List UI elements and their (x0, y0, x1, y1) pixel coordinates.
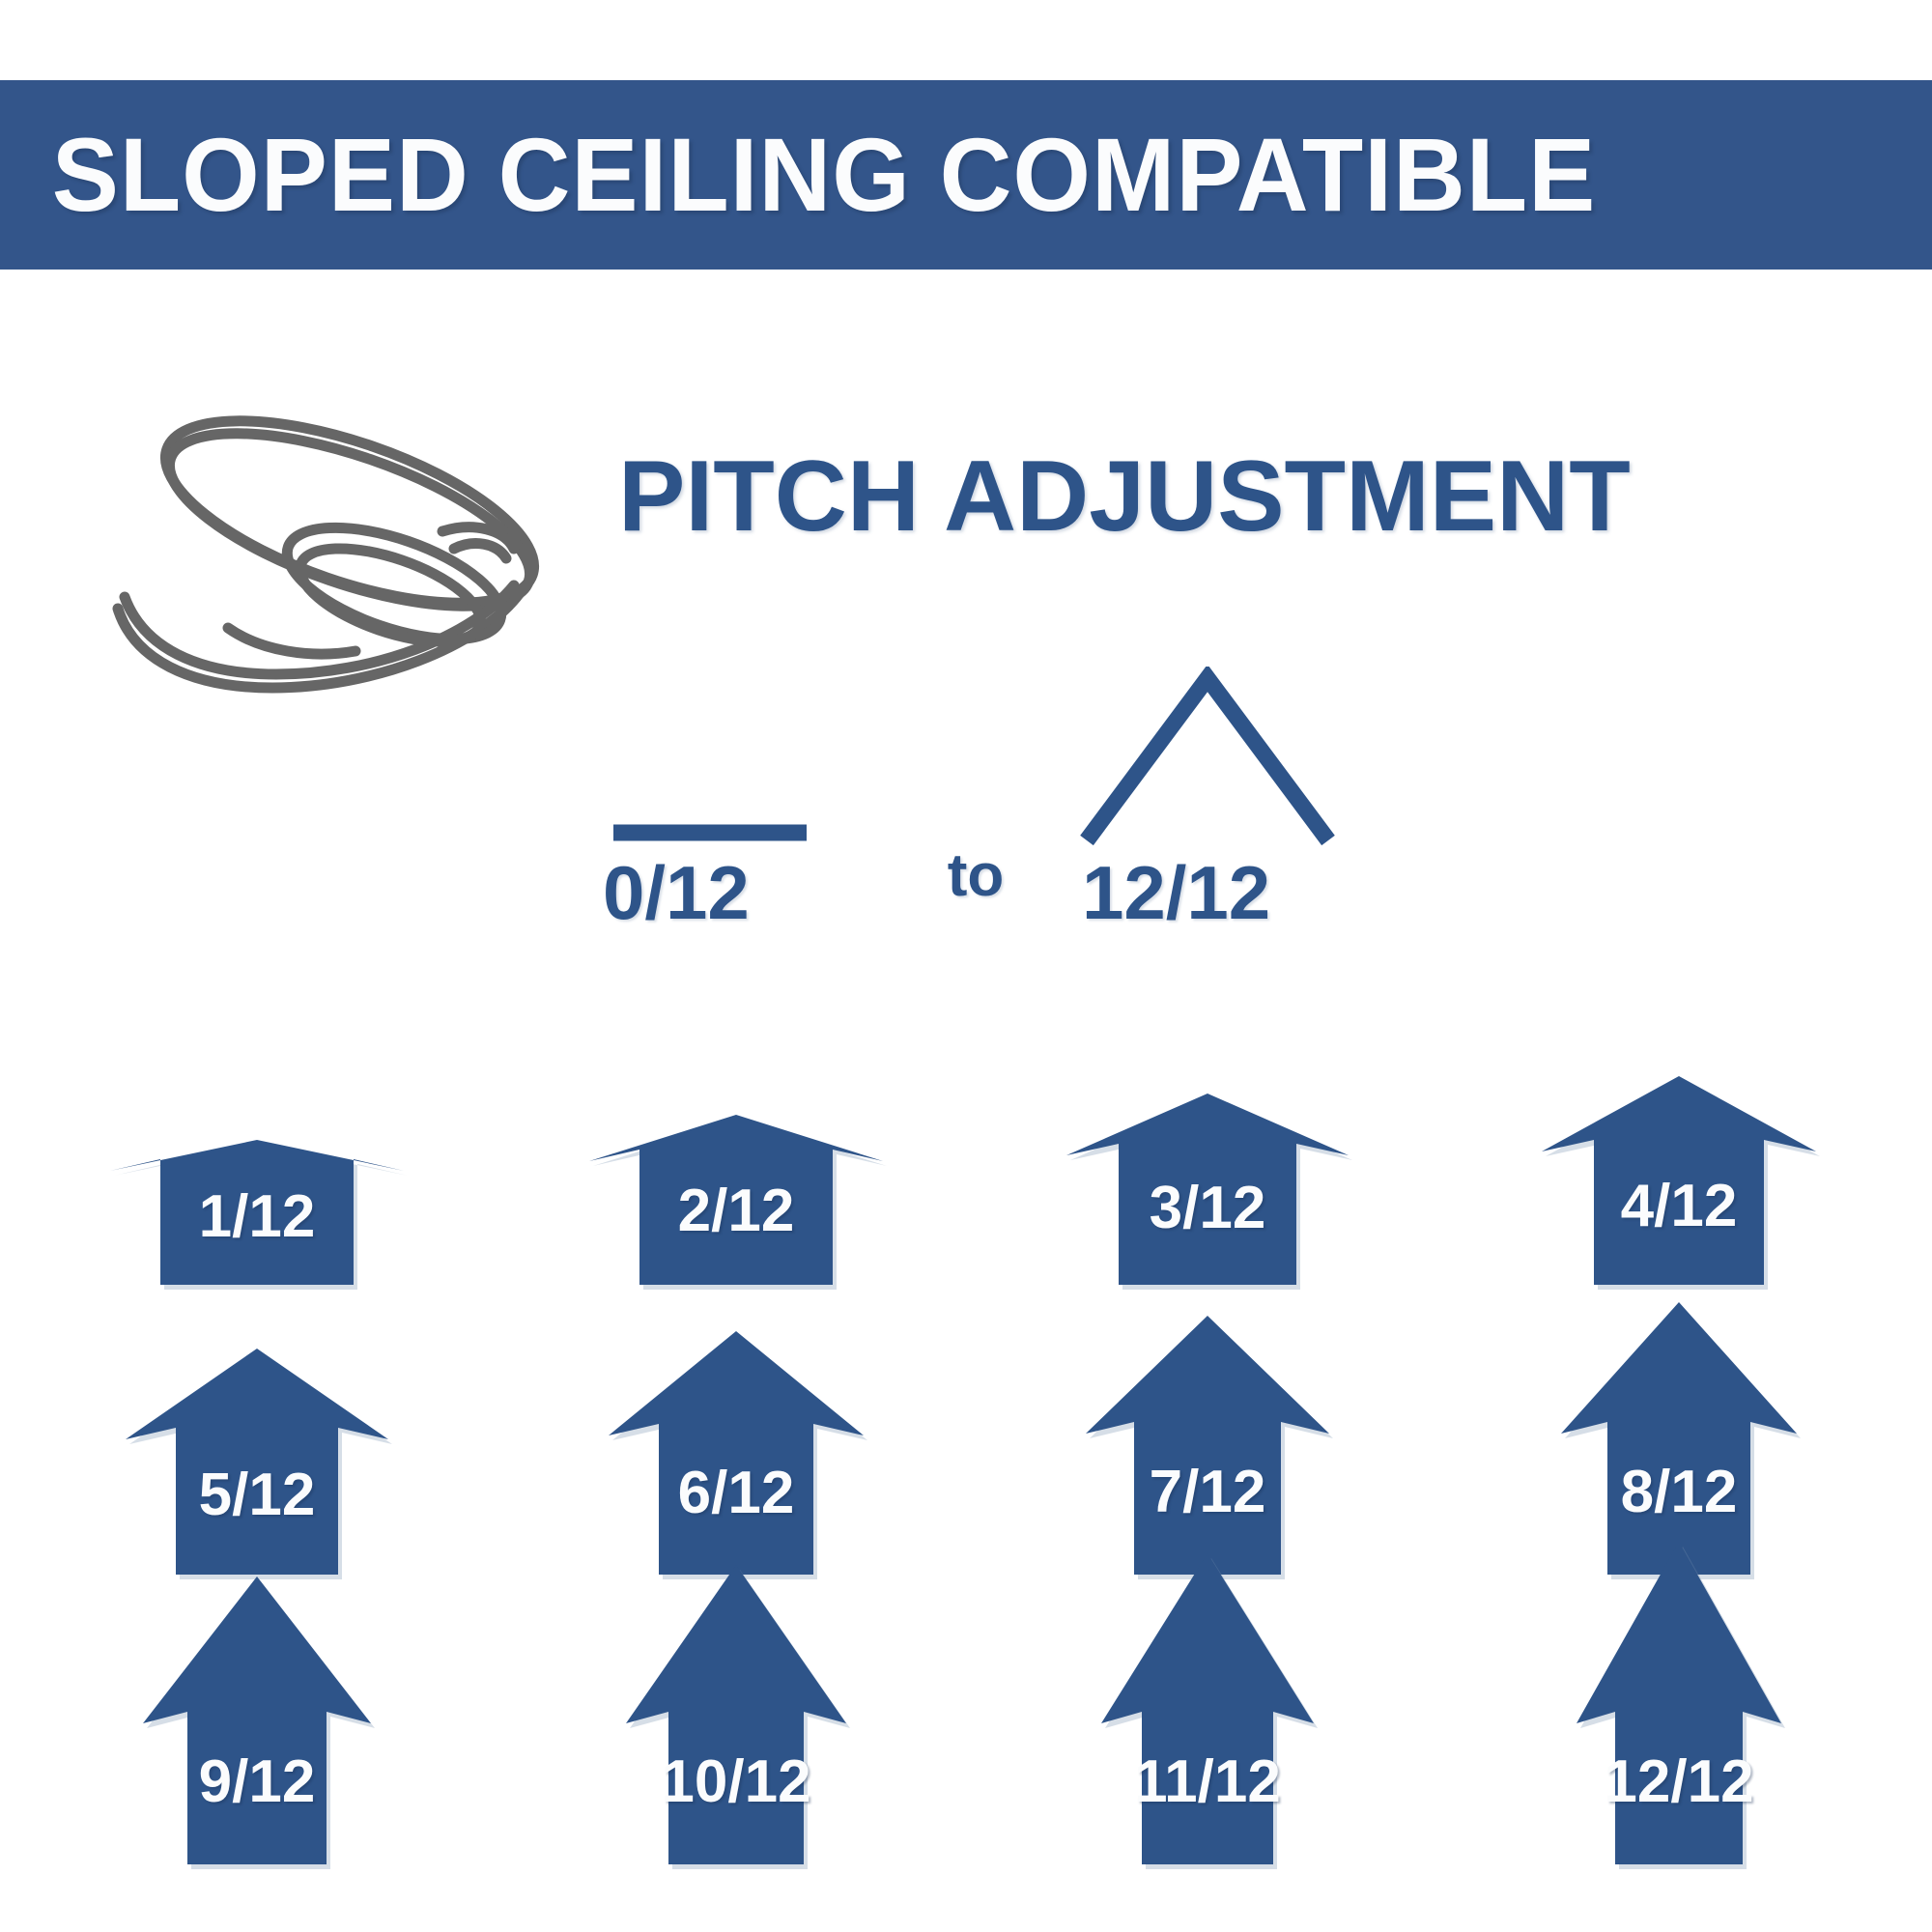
steep-peak-roof-icon (1063, 667, 1372, 855)
page-title: PITCH ADJUSTMENT (618, 446, 1631, 547)
range-connector: to (889, 846, 1063, 906)
range-min-label: 0/12 (580, 855, 889, 930)
pitch-house-11-12: 11/12 (966, 1555, 1449, 1922)
range-connector-label: to (889, 846, 1063, 906)
fan-motor-hub-2 (454, 544, 506, 558)
house-silhouette (1577, 1542, 1781, 1864)
house-shape (495, 1555, 978, 1922)
fan-front-lip (228, 628, 355, 654)
pitch-row-2: 5/12 6/12 7/12 8/12 (0, 1265, 1932, 1565)
house-silhouette (589, 1115, 883, 1285)
ceiling-fan-illustration (83, 369, 605, 726)
pitch-house-grid: 1/12 2/12 3/12 4/12 5/12 6/12 (0, 976, 1932, 1922)
range-maximum: 12/12 (1063, 667, 1372, 930)
house-silhouette (126, 1349, 388, 1575)
house-silhouette (1101, 1553, 1314, 1864)
house-shape (966, 1555, 1449, 1922)
house-silhouette (1066, 1094, 1349, 1285)
house-silhouette (1086, 1316, 1329, 1575)
pitch-range: 0/12 to 12/12 (580, 667, 1372, 947)
house-shape (15, 1555, 498, 1922)
range-max-label: 12/12 (1063, 855, 1372, 930)
house-silhouette (110, 1140, 404, 1285)
infographic-page: SLOPED CEILING COMPATIBLE (0, 0, 1932, 1932)
banner-title: SLOPED CEILING COMPATIBLE (0, 123, 1596, 227)
pitch-house-10-12: 10/12 (495, 1555, 978, 1922)
range-minimum: 0/12 (580, 667, 889, 930)
pitch-house-9-12: 9/12 (15, 1555, 498, 1922)
flat-roof-line-icon (580, 667, 889, 855)
pitch-row-1: 1/12 2/12 3/12 4/12 (0, 976, 1932, 1275)
house-silhouette (1542, 1076, 1816, 1285)
ceiling-fan-icon (83, 369, 605, 726)
house-silhouette (1561, 1302, 1797, 1575)
house-shape (1437, 1555, 1920, 1922)
header-banner: SLOPED CEILING COMPATIBLE (0, 80, 1932, 270)
house-silhouette (143, 1577, 371, 1864)
pitch-house-12-12: 12/12 (1437, 1555, 1920, 1922)
house-silhouette (609, 1331, 864, 1575)
pitch-row-3: 9/12 10/12 11/12 12/12 (0, 1555, 1932, 1855)
